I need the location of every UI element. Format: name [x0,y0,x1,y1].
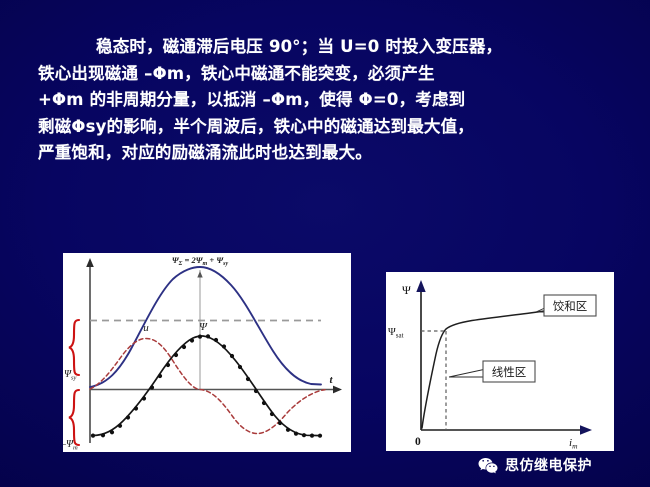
annotation-saturation-region: 饺和区 [544,295,596,316]
watermark-brand-text: 思仿继电保护 [505,455,592,475]
right-chart-panel: 饺和区 线性区 Ψ Ψsat 0 im [386,272,614,451]
slide-paragraph: 稳态时，磁通滞后电压 90°；当 U=0 时投入变压器， 铁心出现磁通 –Φm，… [38,34,638,167]
paragraph-line: +Φm 的非周期分量，以抵消 –Φm，使得 Φ=0，考虑到 [38,87,638,114]
wechat-icon [478,457,498,474]
left-chart-axes [86,258,342,443]
paragraph-line: 剩磁Φsy的影响，半个周波后，铁心中的磁通达到最大值， [38,114,638,141]
total-flux-formula-label: ΨΣ = 2Ψm + Ψsy [172,255,229,267]
slide-canvas: 稳态时，磁通滞后电压 90°；当 U=0 时投入变压器， 铁心出现磁通 –Φm，… [0,0,650,487]
voltage-curve-label: u [143,322,149,334]
bracket-minus-psi-m [69,390,79,445]
watermark: 思仿继电保护 [478,455,592,475]
annotation-linear-region: 线性区 [483,361,535,382]
paragraph-line: 铁心出现磁通 –Φm，铁心中磁通不能突变，必须产生 [38,61,638,88]
flux-curve-label: Ψ [199,321,208,333]
annotation-label-linear: 线性区 [492,365,527,379]
left-chart-svg: ΨΣ = 2Ψm + Ψsy u Ψ t Ψsy –Ψm [63,253,351,452]
bracket-psi-sy [69,320,79,375]
right-chart-origin-label: 0 [415,436,421,448]
paragraph-line: 严重饱和，对应的励磁涌流此时也达到最大。 [38,140,638,167]
flux-curve [93,336,321,436]
right-chart-y-axis-label: Ψ [402,283,411,297]
paragraph-line: 稳态时，磁通滞后电压 90°；当 U=0 时投入变压器， [38,34,638,61]
annotation-label-saturation: 饺和区 [553,299,588,313]
bracket-lower-label: –Ψm [63,439,78,452]
left-chart-panel: ΨΣ = 2Ψm + Ψsy u Ψ t Ψsy –Ψm [63,253,351,452]
right-chart-svg: 饺和区 线性区 Ψ Ψsat 0 im [386,272,614,451]
time-axis-label: t [329,374,333,386]
flux-curve-markers [91,334,322,438]
saturation-level-label: Ψsat [388,327,404,340]
right-chart-x-axis-label: im [569,437,578,451]
